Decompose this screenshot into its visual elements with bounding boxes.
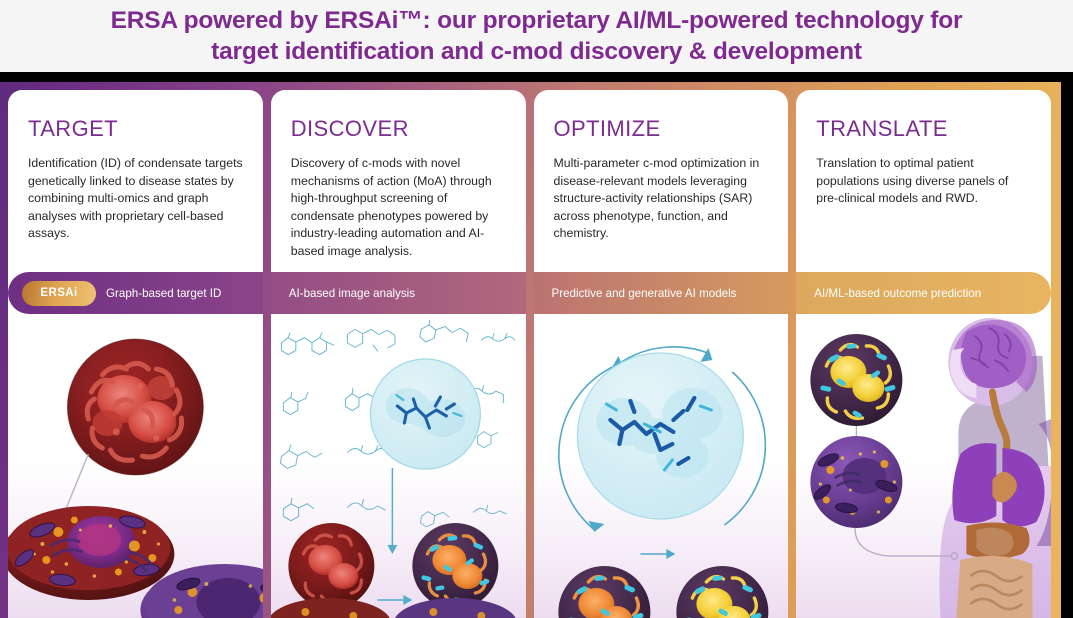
translate-illustration-svg [796,314,1051,618]
card-discover-title: DISCOVER [291,116,506,142]
phenotype-sphere-yellow [676,566,768,618]
card-discover-badge-wrap: AI-based image analysis [271,272,526,314]
condensate-sphere-treated [412,523,498,609]
cell-slivers [271,598,517,618]
illustration-optimize [534,314,789,618]
card-translate-badge-wrap: AI/ML-based outcome prediction [796,272,1051,314]
badge-ai-based-image-analysis[interactable]: AI-based image analysis [271,272,526,314]
slide-root: ERSA powered by ERSAi™: our proprietary … [0,0,1073,618]
card-optimize-description: Multi-parameter c-mod optimization in di… [554,155,769,243]
improvement-arrow [640,549,675,559]
flow-arrow-right [377,595,412,605]
illustration-target [8,314,263,618]
badge-optimize-label: Predictive and generative AI models [552,287,737,300]
card-discover-head: DISCOVER Discovery of c-mods with novel … [271,90,526,260]
card-translate-description: Translation to optimal patient populatio… [816,155,1031,208]
pipeline-cards: TARGET Identification (ID) of condensate… [8,90,1051,618]
gradient-stage: TARGET Identification (ID) of condensate… [0,82,1073,618]
card-discover-description: Discovery of c-mods with novel mechanism… [291,155,506,260]
patient-body [940,318,1051,618]
slide-title-band: ERSA powered by ERSAi™: our proprietary … [0,0,1073,72]
badge-aiml-outcome-prediction[interactable]: AI/ML-based outcome prediction [796,272,1051,314]
card-target-description: Identification (ID) of condensate target… [28,155,243,243]
card-target[interactable]: TARGET Identification (ID) of condensate… [8,90,263,618]
right-black-edge [1061,72,1073,618]
phenotype-sphere-orange [558,566,650,618]
lead-compound-sphere [577,353,743,519]
card-target-title: TARGET [28,116,243,142]
illustration-translate [796,314,1051,618]
badge-discover-label: AI-based image analysis [289,287,415,300]
ersai-logo-pill: ERSAi [22,281,96,306]
cell-cross-section-red [8,506,174,600]
card-translate-title: TRANSLATE [816,116,1031,142]
badge-target-label: Graph-based target ID [106,287,221,300]
condensate-sphere-disease [288,523,374,609]
badge-translate-label: AI/ML-based outcome prediction [814,287,981,300]
flow-arrow-down [387,468,397,554]
target-illustration-svg [8,314,263,618]
card-target-head: TARGET Identification (ID) of condensate… [8,90,263,243]
card-optimize-badge-wrap: Predictive and generative AI models [534,272,789,314]
badge-predictive-generative-ai-models[interactable]: Predictive and generative AI models [534,272,789,314]
card-optimize-title: OPTIMIZE [554,116,769,142]
card-discover[interactable]: DISCOVER Discovery of c-mods with novel … [271,90,526,618]
card-optimize-head: OPTIMIZE Multi-parameter c-mod optimizat… [534,90,789,243]
badge-graph-based-target-id[interactable]: ERSAi Graph-based target ID [8,272,263,314]
callout-cell [811,436,903,528]
card-translate[interactable]: TRANSLATE Translation to optimal patient… [796,90,1051,618]
card-translate-head: TRANSLATE Translation to optimal patient… [796,90,1051,208]
slide-title: ERSA powered by ERSAi™: our proprietary … [99,5,975,68]
illustration-discover [271,314,526,618]
card-target-badge-wrap: ERSAi Graph-based target ID [8,272,263,314]
card-optimize[interactable]: OPTIMIZE Multi-parameter c-mod optimizat… [534,90,789,618]
callout-condensate-yellow [811,334,903,426]
discover-illustration-svg [271,314,526,618]
hit-compound-bubble [370,359,480,469]
top-black-divider [0,72,1073,82]
optimize-illustration-svg [534,314,789,618]
